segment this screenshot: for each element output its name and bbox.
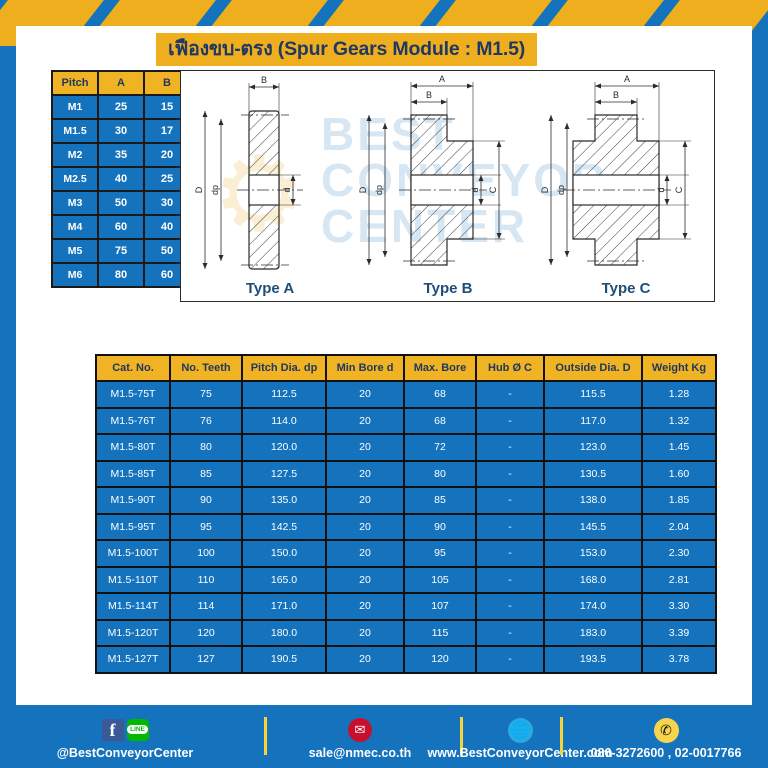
table-cell: 112.5 [243,382,325,407]
table-cell: 110 [171,568,241,593]
footer-icons-social: f LINE [16,717,234,743]
table-cell: 20 [327,435,403,460]
table-cell: 68 [405,382,475,407]
table-cell: 72 [405,435,475,460]
table-cell: 68 [405,409,475,434]
table-cell: 190.5 [243,647,325,672]
table-cell: 20 [327,488,403,513]
svg-text:d: d [656,187,666,192]
table-cell: 171.0 [243,594,325,619]
gear-type-a-caption: Type A [181,280,359,297]
pitch-cell: M2 [53,144,97,166]
col-header-pitch-dia: Pitch Dia. dp [243,356,325,380]
content-panel: เฟืองขบ-ตรง (Spur Gears Module : M1.5) P… [16,26,752,705]
pitch-cell: M3 [53,192,97,214]
table-cell: - [477,488,543,513]
pitch-table-row: M68060 [53,264,189,286]
table-cell: 138.0 [545,488,641,513]
col-header-cat-no: Cat. No. [97,356,169,380]
line-icon[interactable]: LINE [127,719,149,741]
table-cell: - [477,594,543,619]
gear-type-b: A B D dp [359,71,537,302]
pitch-cell: 75 [99,240,143,262]
footer-divider [264,717,267,755]
svg-text:C: C [674,186,684,193]
table-cell: 1.28 [643,382,715,407]
table-row: M1.5-80T80120.02072-123.01.45 [97,435,715,460]
table-cell: 20 [327,515,403,540]
pitch-cell: M1.5 [53,120,97,142]
pitch-cell: M4 [53,216,97,238]
table-cell: - [477,462,543,487]
footer-divider [560,717,563,755]
footer-item-facebook[interactable]: f LINE @BestConveyorCenter [16,717,234,760]
table-row: M1.5-90T90135.02085-138.01.85 [97,488,715,513]
table-cell: 20 [327,409,403,434]
pitch-cell: M2.5 [53,168,97,190]
table-cell: - [477,541,543,566]
pitch-header-pitch: Pitch [53,72,97,94]
table-cell: 107 [405,594,475,619]
table-cell: 95 [171,515,241,540]
table-cell: M1.5-90T [97,488,169,513]
table-cell: 123.0 [545,435,641,460]
table-cell: 183.0 [545,621,641,646]
spur-gear-data-table: Cat. No. No. Teeth Pitch Dia. dp Min Bor… [95,354,717,674]
gear-type-c: A B D dp [537,71,715,302]
svg-text:B: B [426,90,432,100]
svg-text:A: A [439,74,445,84]
table-cell: 174.0 [545,594,641,619]
gear-type-a: B D dp d Type A [181,71,359,302]
table-row: M1.5-85T85127.52080-130.51.60 [97,462,715,487]
svg-text:D: D [540,186,550,193]
table-cell: M1.5-95T [97,515,169,540]
pitch-cell: 40 [99,168,143,190]
facebook-icon[interactable]: f [102,719,124,741]
col-header-weight: Weight Kg [643,356,715,380]
table-cell: 80 [405,462,475,487]
table-cell: 3.78 [643,647,715,672]
table-row: M1.5-75T75112.52068-115.51.28 [97,382,715,407]
pitch-table-row: M1.53017 [53,120,189,142]
data-table-header-row: Cat. No. No. Teeth Pitch Dia. dp Min Bor… [97,356,715,380]
table-cell: 168.0 [545,568,641,593]
table-cell: 76 [171,409,241,434]
svg-text:D: D [359,186,368,193]
gear-type-b-drawing: A B D dp [359,71,537,302]
gear-drawings-box: ⚙ BEST CONVEYOR CENTER [180,70,715,302]
pitch-cell: 30 [99,120,143,142]
table-cell: 90 [171,488,241,513]
table-cell: 145.5 [545,515,641,540]
pitch-table-row: M12515 [53,96,189,118]
table-cell: M1.5-76T [97,409,169,434]
pitch-table-row: M35030 [53,192,189,214]
table-cell: 20 [327,594,403,619]
table-cell: 3.30 [643,594,715,619]
table-cell: 120 [171,621,241,646]
table-cell: 1.32 [643,409,715,434]
pitch-cell: 35 [99,144,143,166]
table-cell: - [477,515,543,540]
table-row: M1.5-120T120180.020115-183.03.39 [97,621,715,646]
table-cell: 85 [171,462,241,487]
table-cell: M1.5-120T [97,621,169,646]
table-cell: M1.5-80T [97,435,169,460]
table-cell: 193.5 [545,647,641,672]
table-cell: 117.0 [545,409,641,434]
table-row: M1.5-95T95142.52090-145.52.04 [97,515,715,540]
table-cell: 85 [405,488,475,513]
table-row: M1.5-114T114171.020107-174.03.30 [97,594,715,619]
pitch-cell: M6 [53,264,97,286]
pitch-cell: 60 [99,216,143,238]
table-cell: - [477,568,543,593]
table-cell: 3.39 [643,621,715,646]
svg-text:d: d [282,187,292,192]
table-cell: 95 [405,541,475,566]
pitch-cell: M5 [53,240,97,262]
table-cell: - [477,435,543,460]
svg-text:B: B [613,90,619,100]
table-row: M1.5-76T76114.02068-117.01.32 [97,409,715,434]
svg-text:dp: dp [210,185,220,195]
table-cell: 20 [327,462,403,487]
col-header-max-bore: Max. Bore [405,356,475,380]
svg-text:dp: dp [374,185,384,195]
table-cell: 2.04 [643,515,715,540]
gear-type-c-caption: Type C [537,280,715,297]
pitch-table-header-row: Pitch A B [53,72,189,94]
table-cell: 105 [405,568,475,593]
footer-label-phone: 086-3272600 , 02-0017766 [568,746,764,760]
phone-icon[interactable]: ✆ [654,718,679,743]
table-cell: 80 [171,435,241,460]
table-cell: M1.5-85T [97,462,169,487]
table-cell: 153.0 [545,541,641,566]
table-cell: 20 [327,621,403,646]
table-cell: 20 [327,382,403,407]
footer-item-phone[interactable]: ✆ 086-3272600 , 02-0017766 [568,717,764,760]
table-cell: M1.5-110T [97,568,169,593]
table-cell: 115 [405,621,475,646]
gear-type-b-caption: Type B [359,280,537,297]
table-cell: 75 [171,382,241,407]
pitch-cell: 80 [99,264,143,286]
pitch-table-row: M57550 [53,240,189,262]
table-cell: 120.0 [243,435,325,460]
table-cell: 1.45 [643,435,715,460]
table-cell: M1.5-75T [97,382,169,407]
footer-label-facebook: @BestConveyorCenter [16,746,234,760]
table-cell: 115.5 [545,382,641,407]
col-header-outside-dia: Outside Dia. D [545,356,641,380]
svg-text:B: B [261,75,267,85]
table-cell: - [477,621,543,646]
table-cell: - [477,382,543,407]
svg-text:A: A [624,74,630,84]
table-row: M1.5-110T110165.020105-168.02.81 [97,568,715,593]
footer-bar: f LINE @BestConveyorCenter ✉ sale@nmec.c… [0,705,768,768]
table-cell: 120 [405,647,475,672]
table-cell: - [477,409,543,434]
pitch-cell: 25 [99,96,143,118]
table-cell: - [477,647,543,672]
svg-text:C: C [488,186,498,193]
table-cell: 135.0 [243,488,325,513]
pitch-table-row: M46040 [53,216,189,238]
table-cell: 1.60 [643,462,715,487]
table-cell: 142.5 [243,515,325,540]
table-cell: 180.0 [243,621,325,646]
gear-type-c-drawing: A B D dp [537,71,715,302]
table-cell: 20 [327,568,403,593]
footer-icons-phone: ✆ [568,717,764,743]
pitch-table-row: M23520 [53,144,189,166]
table-cell: 1.85 [643,488,715,513]
pitch-table-row: M2.54025 [53,168,189,190]
table-cell: 150.0 [243,541,325,566]
page-title: เฟืองขบ-ตรง (Spur Gears Module : M1.5) [156,33,537,66]
pitch-cell: M1 [53,96,97,118]
table-cell: 165.0 [243,568,325,593]
table-cell: 127 [171,647,241,672]
table-cell: 20 [327,647,403,672]
table-cell: 114 [171,594,241,619]
pitch-header-a: A [99,72,143,94]
table-cell: 127.5 [243,462,325,487]
gear-type-a-drawing: B D dp d [181,71,359,302]
table-cell: 100 [171,541,241,566]
table-cell: M1.5-114T [97,594,169,619]
table-cell: 20 [327,541,403,566]
table-cell: 130.5 [545,462,641,487]
table-row: M1.5-100T100150.02095-153.02.30 [97,541,715,566]
pitch-table: Pitch A B M12515M1.53017M23520M2.54025M3… [51,70,191,288]
col-header-hub-c: Hub Ø C [477,356,543,380]
table-cell: 114.0 [243,409,325,434]
globe-icon[interactable]: 🌐 [508,718,533,743]
svg-text:d: d [470,187,480,192]
table-cell: M1.5-100T [97,541,169,566]
col-header-no-teeth: No. Teeth [171,356,241,380]
table-row: M1.5-127T127190.520120-193.53.78 [97,647,715,672]
pitch-cell: 50 [99,192,143,214]
table-cell: M1.5-127T [97,647,169,672]
table-cell: 2.81 [643,568,715,593]
svg-text:D: D [194,186,204,193]
table-cell: 2.30 [643,541,715,566]
svg-text:dp: dp [556,185,566,195]
title-area: เฟืองขบ-ตรง (Spur Gears Module : M1.5) [16,26,752,74]
col-header-min-bore: Min Bore d [327,356,403,380]
table-cell: 90 [405,515,475,540]
line-badge-label: LINE [127,725,148,734]
